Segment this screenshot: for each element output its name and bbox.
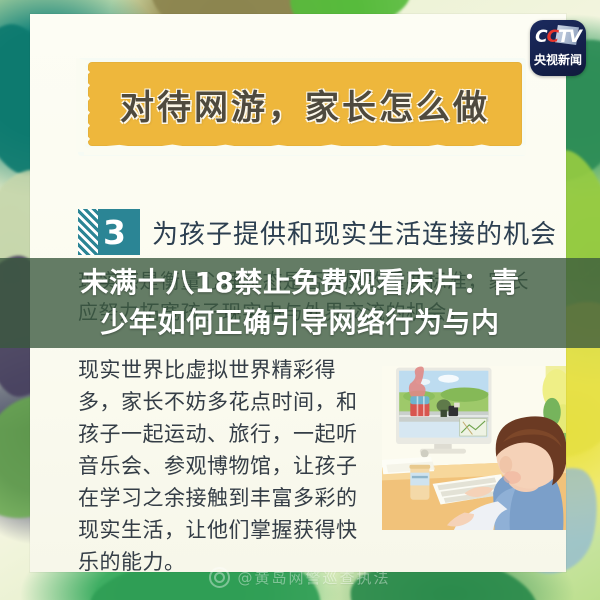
section-number-badge: 3 [78, 209, 140, 255]
cctv-letter-c2: C [547, 27, 558, 47]
cctv-wordmark: CCTV [530, 27, 586, 47]
cctv-letters-tv: TV [558, 27, 581, 47]
weibo-watermark: @黄岛网警巡查执法 [0, 567, 600, 588]
cctv-logo-name-cn: 央视新闻 [530, 51, 586, 68]
banner-yellow-plate: 对待网游，家长怎么做 [88, 62, 522, 146]
headline-overlay-text: 未满十八18禁止免费观看床片：青 少年如何正确引导网络行为与内 [0, 258, 600, 348]
cctv-letter-c1: C [535, 27, 546, 47]
weibo-icon [209, 567, 230, 588]
infographic-card-image: 对待网游，家长怎么做 3 为孩子提供和现实生活连接的机会 现实感是衡量心理状态是… [0, 0, 600, 600]
headline-line-2: 少年如何正确引导网络行为与内 [100, 304, 499, 342]
hatch-stripes-icon [78, 209, 98, 255]
section-number-text: 3 [103, 216, 140, 249]
section-title-text: 为孩子提供和现实生活连接的机会 [152, 214, 557, 251]
illustration-svg [382, 366, 566, 530]
banner-title-text: 对待网游，家长怎么做 [88, 62, 522, 146]
boy-at-computer-illustration [382, 366, 566, 530]
banner-title-block: 对待网游，家长怎么做 [78, 58, 526, 156]
body-paragraph-text: 现实世界比虚拟世界精彩得多，家长不妨多花点时间，和孩子一起运动、旅行，一起听音乐… [78, 354, 360, 578]
cctv-news-logo: CCTV 央视新闻 [530, 20, 586, 76]
headline-line-1: 未满十八18禁止免费观看床片：青 [81, 264, 520, 302]
weibo-handle-text: @黄岛网警巡查执法 [237, 567, 390, 588]
section-heading-row: 3 为孩子提供和现实生活连接的机会 [78, 209, 557, 255]
